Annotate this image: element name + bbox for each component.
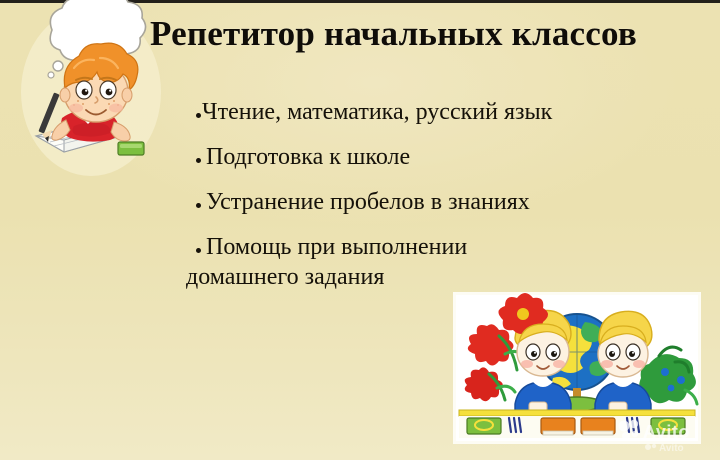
- boy-writing-illustration: [18, 0, 164, 176]
- bullet-dot-icon: [196, 113, 201, 118]
- bullet-dot-icon: [196, 248, 201, 253]
- list-item: Помощь при выполнении домашнего задания: [196, 235, 676, 290]
- bullet-dot-icon: [196, 203, 201, 208]
- bullet-dot-icon: [196, 158, 201, 163]
- page-title: Репетитор начальных классов: [150, 14, 710, 54]
- service-list: Чтение, математика, русский язык Подгото…: [196, 100, 676, 310]
- list-item-label: Чтение, математика, русский язык: [202, 99, 552, 125]
- list-item: Устранение пробелов в знаниях: [196, 190, 676, 215]
- list-item-label: Помощь при выполнении: [206, 234, 467, 260]
- eraser-icon: [118, 142, 144, 155]
- list-item-label: Подготовка к школе: [206, 144, 410, 170]
- list-item: Чтение, математика, русский язык: [196, 100, 676, 125]
- pupils-globe-illustration: [453, 292, 701, 444]
- svg-text:Avito: Avito: [659, 443, 684, 454]
- list-item-label: Устранение пробелов в знаниях: [206, 189, 530, 215]
- list-item: Подготовка к школе: [196, 145, 676, 170]
- list-item-label-continued: домашнего задания: [186, 265, 676, 290]
- boy-figure: [595, 311, 652, 418]
- poster-canvas: Репетитор начальных классов Чтение, мате…: [0, 0, 720, 460]
